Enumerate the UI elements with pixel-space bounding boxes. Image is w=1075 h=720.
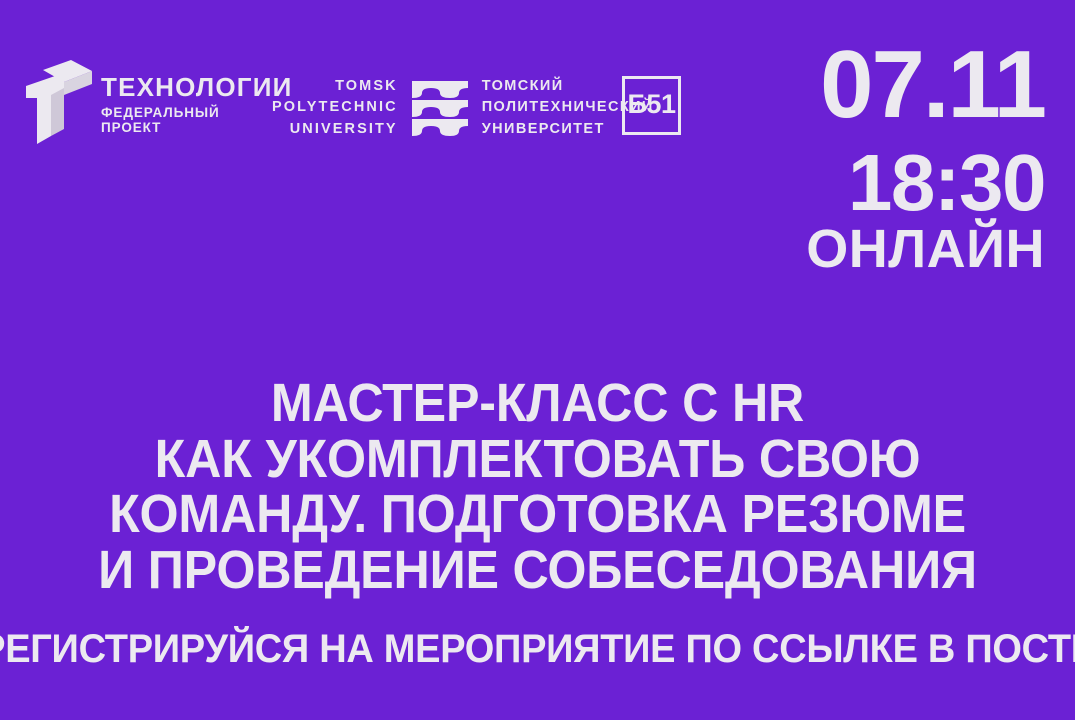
- tpu-stacked-blocks-icon: [412, 79, 468, 137]
- federal-project-title: ТЕХНОЛОГИИ: [101, 74, 293, 100]
- headline: МАСТЕР-КЛАСС С HR КАК УКОМПЛЕКТОВАТЬ СВО…: [0, 376, 1075, 598]
- tpu-english-line3: UNIVERSITY: [272, 119, 398, 140]
- event-time: 18:30: [806, 149, 1045, 216]
- headline-line-3: КОМАНДУ. ПОДГОТОВКА РЕЗЮМЕ: [51, 487, 1025, 543]
- event-datetime-block: 07.11 18:30 ОНЛАЙН: [806, 46, 1045, 273]
- b51-logo: Б51: [622, 76, 681, 135]
- headline-line-1: МАСТЕР-КЛАСС С HR: [51, 376, 1025, 432]
- event-format: ОНЛАЙН: [806, 226, 1045, 274]
- event-date: 07.11: [806, 46, 1045, 125]
- registration-marquee: РЕГИСТРИРУЙСЯ НА МЕРОПРИЯТИЕ ПО ССЫЛКЕ В…: [0, 626, 1075, 672]
- b51-label: Б51: [628, 91, 676, 118]
- tpu-english-line2: POLYTECHNIC: [272, 97, 398, 118]
- headline-line-4: И ПРОВЕДЕНИЕ СОБЕСЕДОВАНИЯ: [51, 543, 1025, 599]
- tpu-logo: TOMSK POLYTECHNIC UNIVERSITY ТОМСКИЙ ПОЛ…: [272, 76, 654, 140]
- event-promo-poster: ТЕХНОЛОГИИ ФЕДЕРАЛЬНЫЙ ПРОЕКТ TOMSK POLY…: [0, 0, 1075, 720]
- isometric-t-logo-icon: [26, 58, 92, 146]
- federal-project-subtitle-line1: ФЕДЕРАЛЬНЫЙ: [101, 106, 293, 121]
- headline-line-2: КАК УКОМПЛЕКТОВАТЬ СВОЮ: [51, 432, 1025, 488]
- federal-project-logo: ТЕХНОЛОГИИ ФЕДЕРАЛЬНЫЙ ПРОЕКТ: [26, 58, 293, 146]
- federal-project-wordmark: ТЕХНОЛОГИИ ФЕДЕРАЛЬНЫЙ ПРОЕКТ: [101, 58, 293, 135]
- registration-marquee-text: РЕГИСТРИРУЙСЯ НА МЕРОПРИЯТИЕ ПО ССЫЛКЕ В…: [0, 626, 1075, 672]
- federal-project-subtitle: ФЕДЕРАЛЬНЫЙ ПРОЕКТ: [101, 106, 293, 135]
- federal-project-subtitle-line2: ПРОЕКТ: [101, 121, 293, 136]
- tpu-english-line1: TOMSK: [272, 76, 398, 97]
- tpu-english-name: TOMSK POLYTECHNIC UNIVERSITY: [272, 76, 398, 140]
